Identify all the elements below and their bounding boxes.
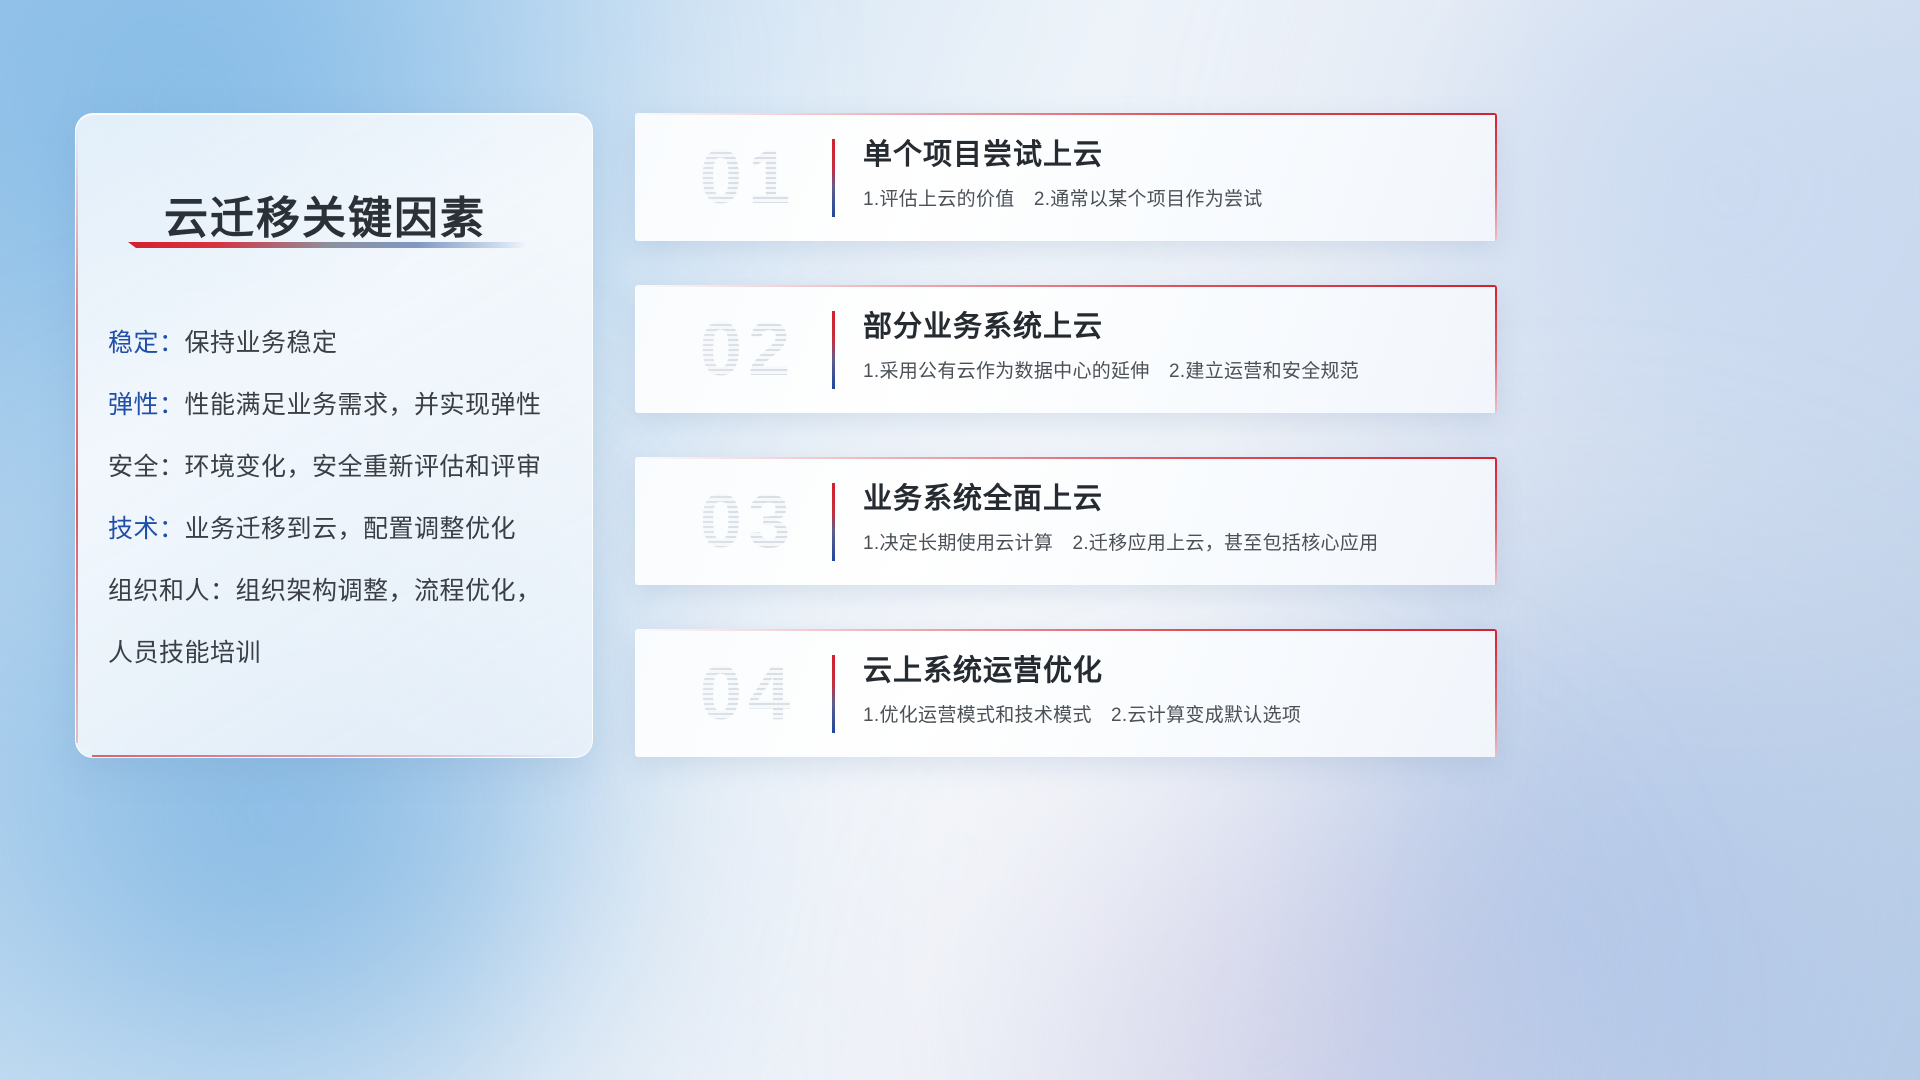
step-body-01: 单个项目尝试上云 1.评估上云的价值 2.通常以某个项目作为尝试: [863, 133, 1473, 217]
factor-item-technology: 技术：业务迁移到云，配置调整优化: [108, 498, 574, 560]
step-title-01: 单个项目尝试上云: [863, 133, 1473, 177]
factor-label-security: 安全：: [108, 453, 185, 481]
slide-stage: 云迁移关键因素 稳定：保持业务稳定 弹性：性能满足业务需求，并实现弹性 安全：环…: [0, 0, 1920, 1080]
factor-text-organization: 组织架构调整，流程优化，: [236, 577, 542, 605]
factor-item-security: 安全：环境变化，安全重新评估和评审: [108, 436, 574, 498]
factor-label-elasticity: 弹性：: [108, 391, 185, 419]
factor-text-stability: 保持业务稳定: [185, 329, 338, 357]
step-number-03: 03: [663, 471, 833, 571]
key-factors-panel: 云迁移关键因素 稳定：保持业务稳定 弹性：性能满足业务需求，并实现弹性 安全：环…: [75, 113, 593, 758]
factor-list: 稳定：保持业务稳定 弹性：性能满足业务需求，并实现弹性 安全：环境变化，安全重新…: [108, 312, 574, 684]
card-left-highlight: [635, 637, 636, 749]
card-right-accent-line: [1495, 285, 1497, 413]
factor-item-organization: 组织和人：组织架构调整，流程优化，: [108, 560, 574, 622]
card-left-highlight: [635, 293, 636, 405]
step-description-03: 1.决定长期使用云计算 2.迁移应用上云，甚至包括核心应用: [863, 527, 1473, 561]
step-divider-bar-02: [832, 311, 835, 389]
panel-bottom-accent-edge: [92, 755, 576, 757]
card-top-accent-line: [635, 113, 1497, 115]
card-left-highlight: [635, 465, 636, 577]
factor-text-technology: 业务迁移到云，配置调整优化: [185, 515, 517, 543]
card-left-highlight: [635, 121, 636, 233]
card-top-accent-line: [635, 457, 1497, 459]
step-body-04: 云上系统运营优化 1.优化运营模式和技术模式 2.云计算变成默认选项: [863, 649, 1473, 733]
step-description-02: 1.采用公有云作为数据中心的延伸 2.建立运营和安全规范: [863, 355, 1473, 389]
step-card-03[interactable]: 03 业务系统全面上云 1.决定长期使用云计算 2.迁移应用上云，甚至包括核心应…: [635, 457, 1497, 585]
step-divider-bar-04: [832, 655, 835, 733]
step-title-02: 部分业务系统上云: [863, 305, 1473, 349]
card-top-accent-line: [635, 285, 1497, 287]
factor-item-organization-wrap: 人员技能培训: [108, 622, 574, 684]
factor-label-stability: 稳定：: [108, 329, 185, 357]
card-right-accent-line: [1495, 457, 1497, 585]
factor-item-elasticity: 弹性：性能满足业务需求，并实现弹性: [108, 374, 574, 436]
card-top-accent-line: [635, 629, 1497, 631]
step-title-03: 业务系统全面上云: [863, 477, 1473, 521]
step-description-01: 1.评估上云的价值 2.通常以某个项目作为尝试: [863, 183, 1473, 217]
step-number-04: 04: [663, 643, 833, 743]
step-body-03: 业务系统全面上云 1.决定长期使用云计算 2.迁移应用上云，甚至包括核心应用: [863, 477, 1473, 561]
factor-label-organization: 组织和人：: [108, 577, 236, 605]
step-divider-bar-01: [832, 139, 835, 217]
factor-label-technology: 技术：: [108, 515, 185, 543]
factor-text-organization-continued: 人员技能培训: [108, 639, 261, 667]
title-underline-rule: [128, 242, 528, 248]
factor-text-elasticity: 性能满足业务需求，并实现弹性: [185, 391, 542, 419]
factor-item-stability: 稳定：保持业务稳定: [108, 312, 574, 374]
step-card-01[interactable]: 01 单个项目尝试上云 1.评估上云的价值 2.通常以某个项目作为尝试: [635, 113, 1497, 241]
panel-left-accent-edge: [76, 128, 78, 743]
step-number-02: 02: [663, 299, 833, 399]
step-description-04: 1.优化运营模式和技术模式 2.云计算变成默认选项: [863, 699, 1473, 733]
step-divider-bar-03: [832, 483, 835, 561]
step-number-01: 01: [663, 127, 833, 227]
step-card-02[interactable]: 02 部分业务系统上云 1.采用公有云作为数据中心的延伸 2.建立运营和安全规范: [635, 285, 1497, 413]
step-body-02: 部分业务系统上云 1.采用公有云作为数据中心的延伸 2.建立运营和安全规范: [863, 305, 1473, 389]
factor-text-security: 环境变化，安全重新评估和评审: [185, 453, 542, 481]
card-right-accent-line: [1495, 629, 1497, 757]
step-title-04: 云上系统运营优化: [863, 649, 1473, 693]
card-right-accent-line: [1495, 113, 1497, 241]
page-title: 云迁移关键因素: [164, 182, 486, 246]
step-card-04[interactable]: 04 云上系统运营优化 1.优化运营模式和技术模式 2.云计算变成默认选项: [635, 629, 1497, 757]
